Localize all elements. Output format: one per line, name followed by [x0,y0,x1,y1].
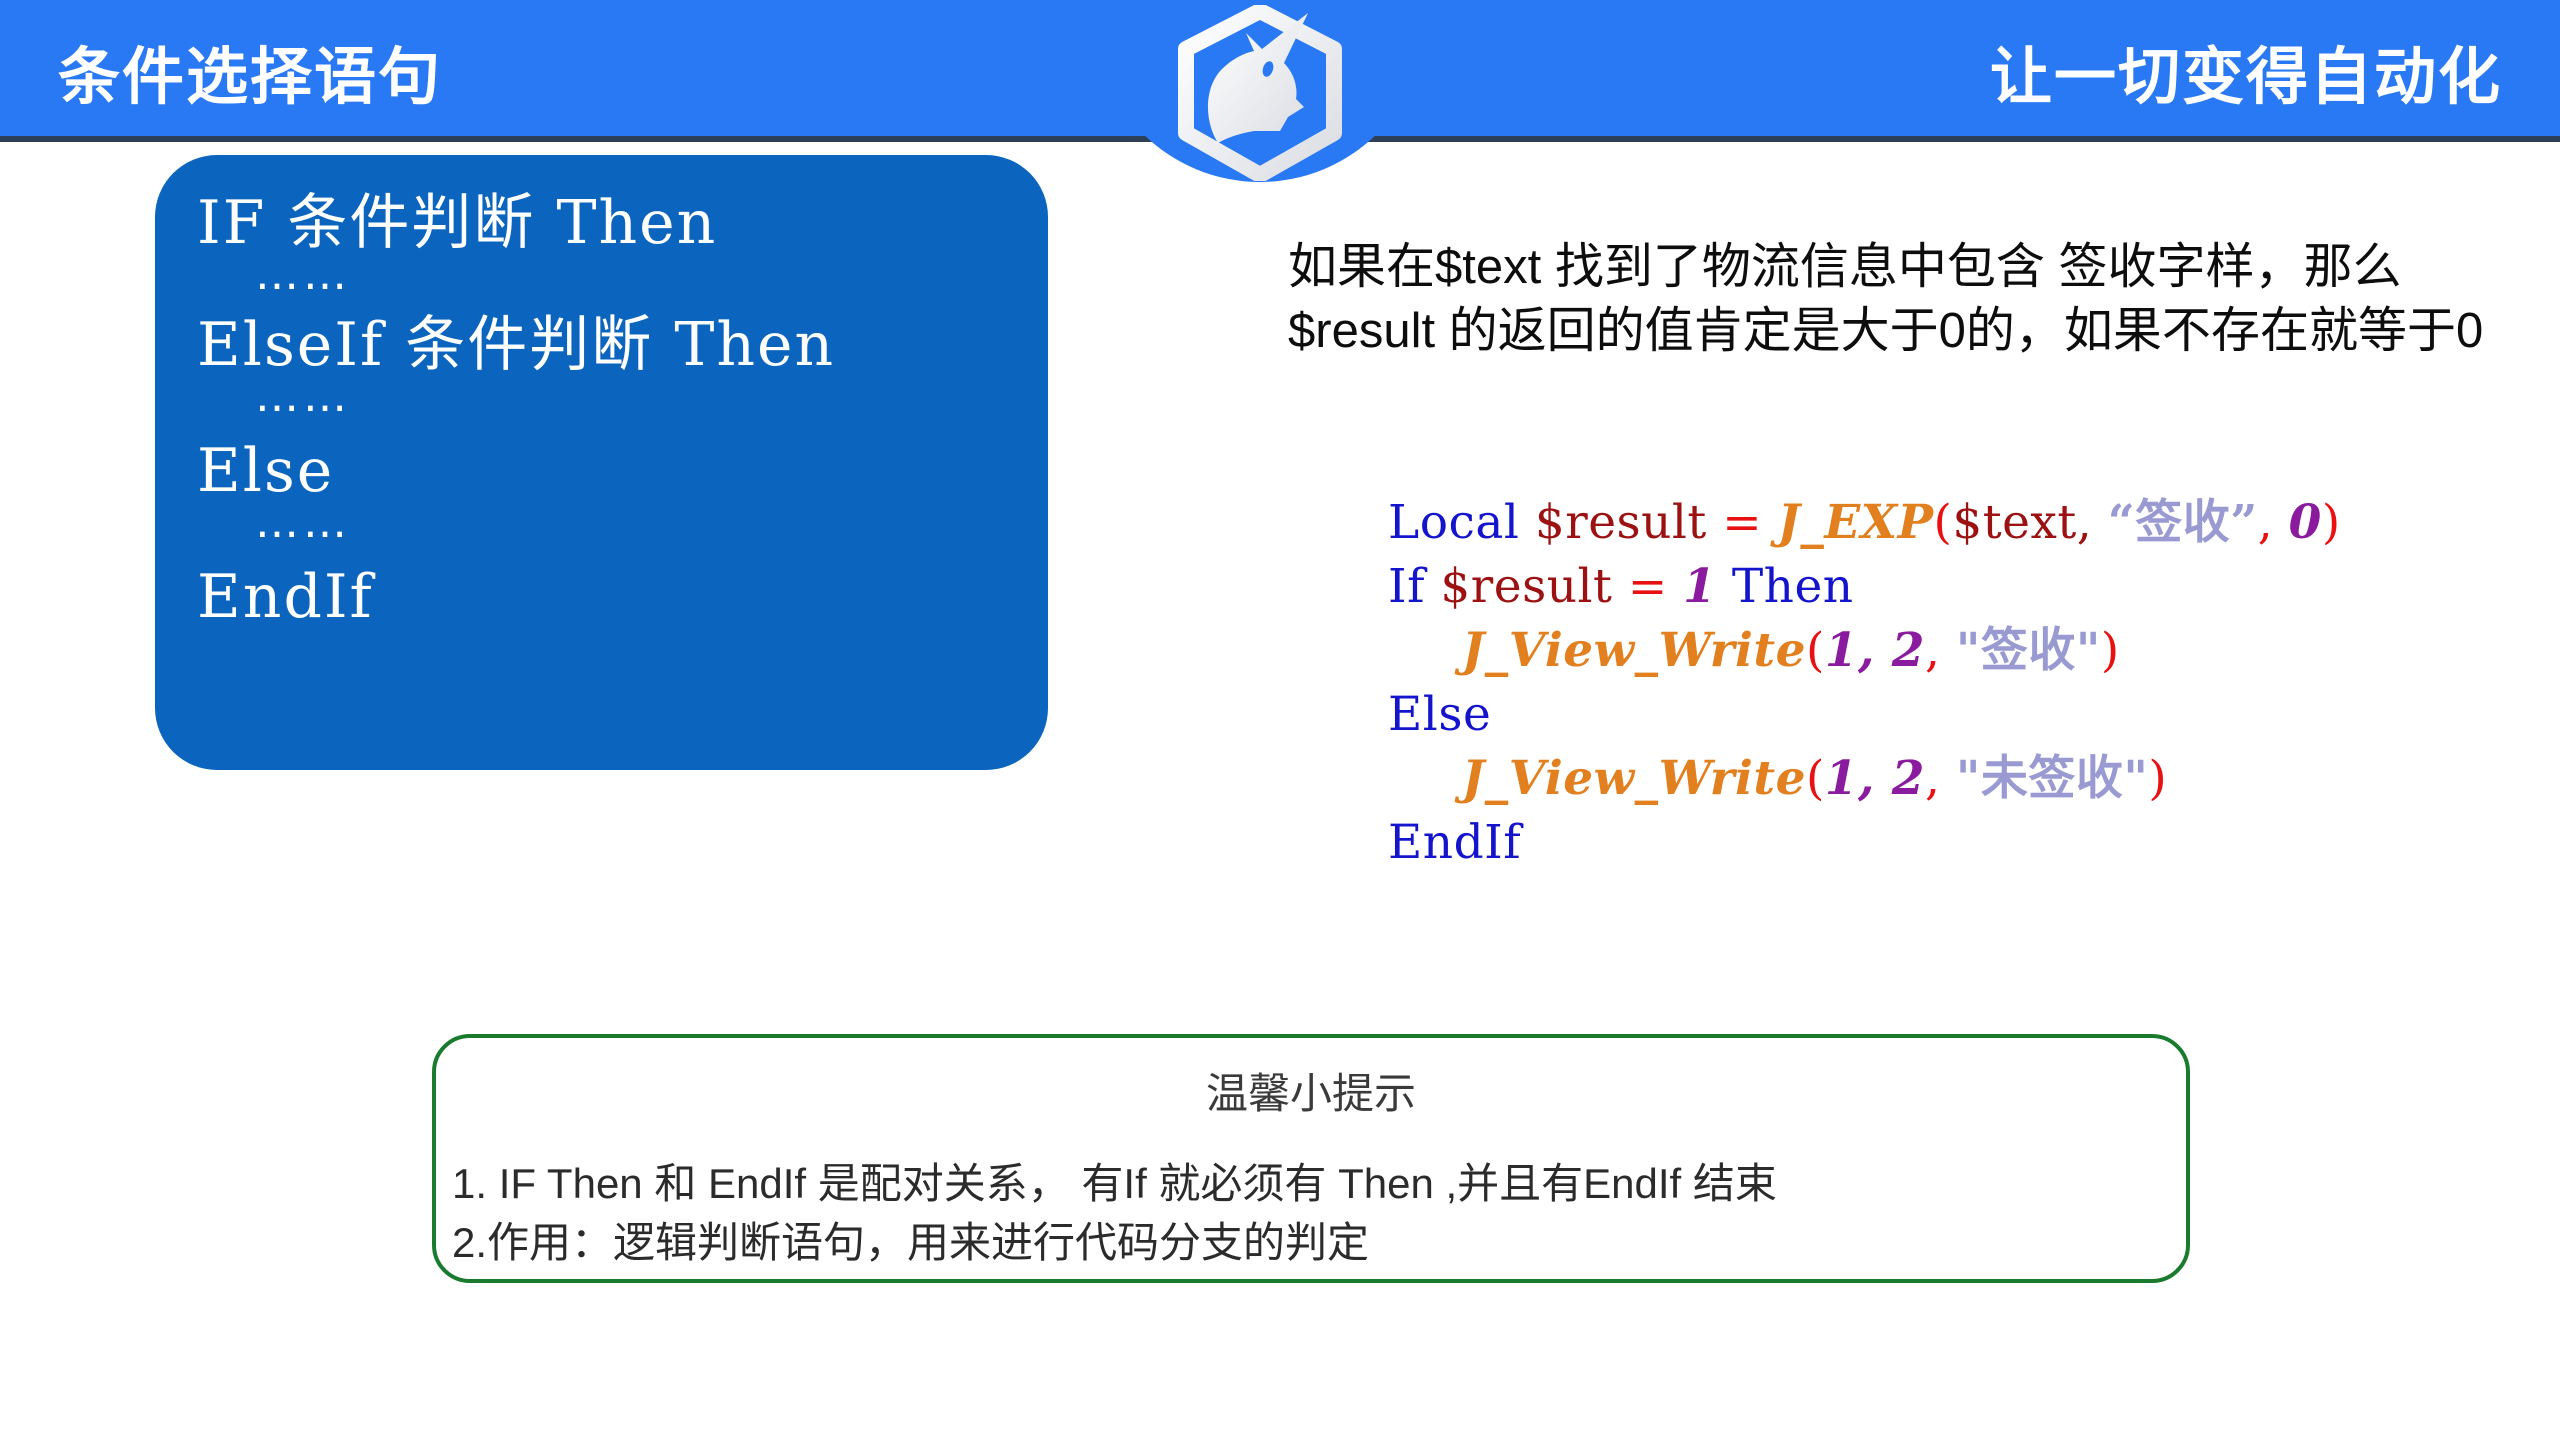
code-token-punct: , [1925,751,1956,806]
code-token-number: 1, 2 [1825,623,1925,678]
code-line-3: J_View_Write(1, 2, "签收") [1388,620,2548,684]
code-token-variable: $result [1440,559,1627,614]
code-token-function: J_View_Write [1462,751,1806,806]
pseudocode-panel: IF 条件判断 Then …… ElseIf 条件判断 Then …… Else… [155,155,1048,770]
pseudocode-line-else: Else [197,441,1048,501]
page-title: 条件选择语句 [58,26,442,116]
code-line-6: EndIf [1388,812,2548,876]
code-token-variable: $text, [1952,495,2107,550]
code-token-string: "签收" [1956,623,2101,678]
code-token-punct: ) [2322,495,2341,550]
code-token-keyword: Else [1388,687,1491,742]
code-token-number: 1 [1683,559,1716,614]
code-token-function: J_EXP [1778,495,1934,550]
code-token-keyword: Local [1388,495,1535,550]
code-token-keyword: Then [1732,559,1854,614]
code-token-punct: ( [1806,751,1825,806]
code-token-punct: , [1925,623,1956,678]
code-token-operator: = [1722,495,1777,550]
pseudocode-dots-2: …… [197,375,1048,419]
header-slogan: 让一切变得自动化 [1990,26,2502,116]
code-token-punct: ( [1933,495,1952,550]
pseudocode-line-if: IF 条件判断 Then [197,181,1048,253]
tip-box-body: 1. IF Then 和 EndIf 是配对关系， 有If 就必须有 Then … [452,1155,2152,1273]
code-sample: Local $result = J_EXP($text, “签收”, 0)If … [1388,492,2548,876]
pseudocode-line-endif: EndIf [197,567,1048,627]
tip-line-1: 1. IF Then 和 EndIf 是配对关系， 有If 就必须有 Then … [452,1155,2152,1214]
tip-box: 温馨小提示 1. IF Then 和 EndIf 是配对关系， 有If 就必须有… [432,1034,2190,1283]
code-token-number: 1, 2 [1825,751,1925,806]
tip-line-2: 2.作用：逻辑判断语句，用来进行代码分支的判定 [452,1214,2152,1273]
pseudocode-dots-1: …… [197,253,1048,297]
code-token-punct: ( [1806,623,1825,678]
description-paragraph: 如果在$text 找到了物流信息中包含 签收字样，那么$result 的返回的值… [1288,236,2532,363]
code-token-keyword: EndIf [1388,815,1521,870]
code-token-variable: $result [1535,495,1722,550]
unicorn-hexagon-logo-icon [1158,5,1362,181]
code-token-operator: = [1628,559,1683,614]
code-line-1: Local $result = J_EXP($text, “签收”, 0) [1388,492,2548,556]
code-line-4: Else [1388,684,2548,748]
code-token-string: “签收” [2108,495,2258,550]
code-token-keyword: If [1388,559,1440,614]
pseudocode-line-elseif: ElseIf 条件判断 Then [197,315,1048,375]
pseudocode-dots-3: …… [197,501,1048,545]
code-token-punct: ) [2101,623,2120,678]
code-line-2: If $result = 1 Then [1388,556,2548,620]
code-token-function: J_View_Write [1462,623,1806,678]
code-token-punct: , [2258,495,2289,550]
code-line-5: J_View_Write(1, 2, "未签收") [1388,748,2548,812]
code-token-string: "未签收" [1956,751,2148,806]
code-token-number: 0 [2289,495,2322,550]
code-token-punct: ) [2148,751,2167,806]
code-token-punct [1716,559,1731,614]
tip-box-title: 温馨小提示 [436,1060,2186,1121]
